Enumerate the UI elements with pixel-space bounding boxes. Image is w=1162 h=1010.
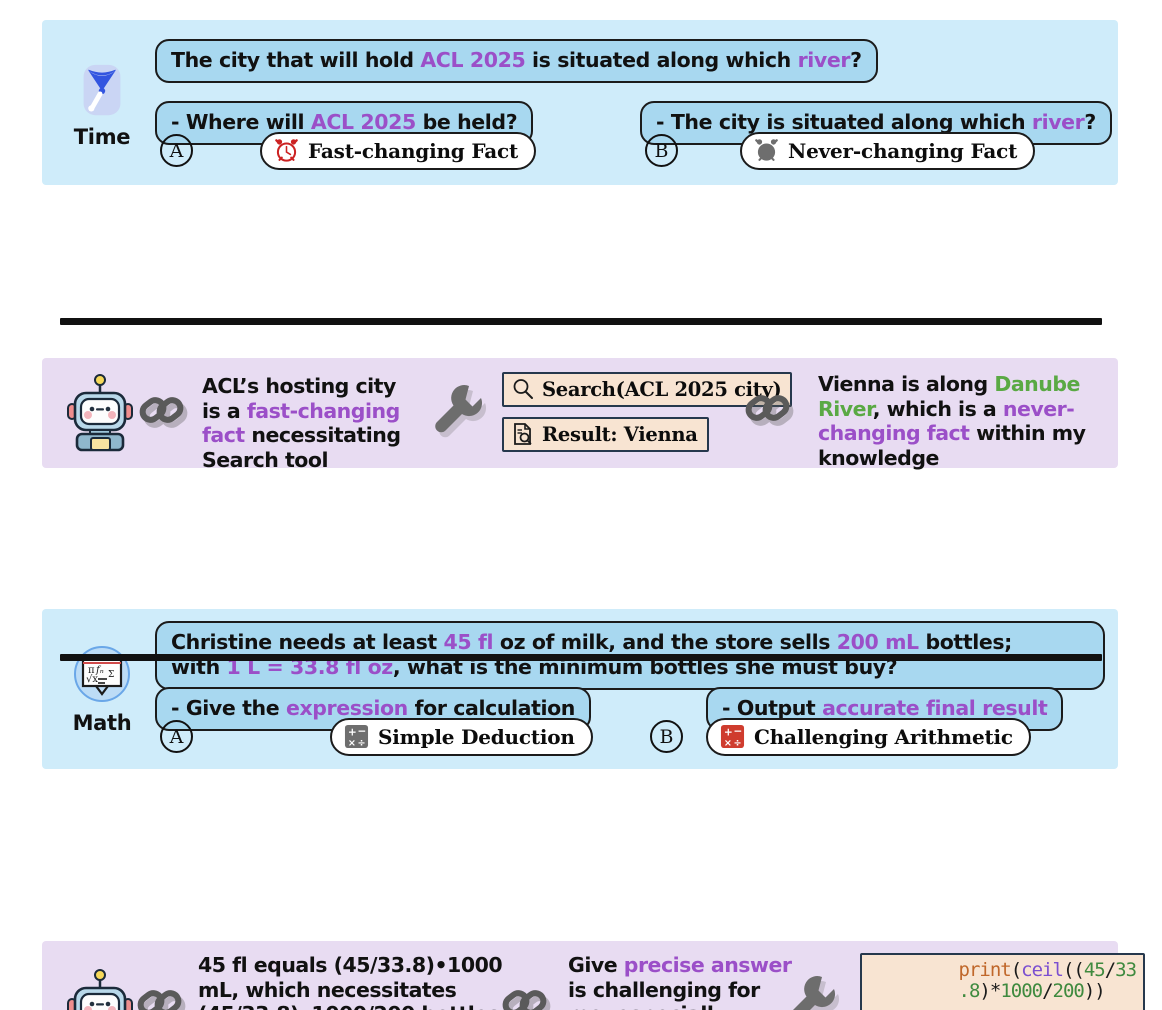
magnifier-icon (511, 377, 535, 401)
time-label-column: Time (54, 20, 150, 185)
time-question-panel: Time The city that will hold ACL 2025 is… (42, 20, 1118, 185)
rb-l1: Vienna is along (818, 372, 994, 396)
rb-l2: , which is a (873, 397, 1003, 421)
badge-a: A (160, 720, 193, 753)
svg-text:−: − (357, 726, 366, 738)
sq-text: - Output (722, 696, 822, 720)
pill-label: Never-changing Fact (788, 139, 1017, 163)
agent-avatar-column (54, 941, 146, 1010)
ra-l3: necessitating (245, 423, 401, 447)
sq-highlight: ACL 2025 (311, 110, 416, 134)
hourglass-icon (69, 57, 135, 123)
chain-link-icon-2 (745, 386, 801, 438)
ra-l3h: fact (202, 423, 245, 447)
mm-2: is challenging for (568, 978, 760, 1002)
code-window-icon: </> (868, 965, 952, 1010)
svg-text:√x: √x (86, 674, 98, 685)
badge-b: B (650, 720, 683, 753)
badge-a: A (160, 134, 193, 167)
math-label: Math (73, 711, 132, 735)
time-answer-left-text: ACL’s hosting city is a fast-changing fa… (202, 374, 402, 472)
q-text-3: ? (850, 48, 862, 72)
tool-search-result[interactable]: Result: Vienna (502, 417, 709, 452)
code-text: print(ceil((45/33.8)*1000/200)) (959, 960, 1137, 1003)
sq-highlight: expression (286, 696, 408, 720)
sq-text-2: for calculation (408, 696, 575, 720)
math-answer-mid-text: Give precise answer is challenging for m… (568, 953, 808, 1010)
math-label-column: π fₙ Σ √x Math (54, 609, 150, 769)
q-highlight-2: river (798, 48, 851, 72)
ra-l2h: fast-changing (247, 399, 400, 423)
time-answer-panel: ACL’s hosting city is a fast-changing fa… (42, 358, 1118, 468)
svg-text:÷: ÷ (357, 738, 365, 749)
sq-text: - Where will (171, 110, 311, 134)
mq-1a: Christine needs at least (171, 630, 444, 654)
pill-label: Fast-changing Fact (308, 139, 518, 163)
figure-root: Time The city that will hold ACL 2025 is… (0, 0, 1162, 1010)
wrench-icon-2 (778, 969, 842, 1010)
rb-l1h: Danube (994, 372, 1080, 396)
robot-icon (64, 969, 136, 1010)
ml-3: (45/33.8)•1000/200 bottles. (198, 1002, 507, 1010)
chain-link-icon-4 (502, 981, 558, 1010)
pill-label: Simple Deduction (378, 725, 575, 749)
mm-3: me, especially (568, 1002, 726, 1010)
mq-h1: 45 fl (444, 630, 494, 654)
alarm-clock-red-icon (274, 138, 299, 163)
pill-challenging-arithmetic: + − × ÷ Challenging Arithmetic (706, 718, 1031, 756)
q-text-2: is situated along which (525, 48, 797, 72)
section-divider-2 (60, 654, 1102, 661)
tool-code-call[interactable]: </> print(ceil((45/33.8)*1000/200)) (860, 953, 1145, 1010)
agent-avatar-column (54, 358, 146, 468)
sq-text: - The city is situated along which (656, 110, 1032, 134)
svg-text:÷: ÷ (733, 738, 741, 749)
math-answer-left-text: 45 fl equals (45/33.8)•1000 mL, which ne… (198, 953, 508, 1010)
section-divider-1 (60, 318, 1102, 325)
calculator-gray-icon: + − × ÷ (344, 724, 369, 749)
calculator-red-icon: + − × ÷ (720, 724, 745, 749)
svg-text:+: + (348, 727, 357, 739)
mm-1: Give precise answer (568, 953, 791, 977)
sq-text-2: be held? (416, 110, 517, 134)
pill-never-changing-fact: Never-changing Fact (740, 132, 1035, 170)
sq-text-2: ? (1084, 110, 1096, 134)
ml-1: 45 fl equals (45/33.8)•1000 (198, 953, 502, 977)
sq-text: - Give the (171, 696, 286, 720)
tool-label: Result: Vienna (542, 423, 698, 446)
pill-label: Challenging Arithmetic (754, 725, 1013, 749)
mq-1c: bottles; (919, 630, 1012, 654)
q-highlight-1: ACL 2025 (420, 48, 525, 72)
robot-icon (64, 374, 136, 452)
time-answer-right-text: Vienna is along Danube River, which is a… (818, 372, 1108, 470)
wrench-icon-1 (425, 378, 489, 442)
mq-1b: oz of milk, and the store sells (493, 630, 837, 654)
svg-text:+: + (724, 727, 733, 739)
math-answer-panel: 45 fl equals (45/33.8)•1000 mL, which ne… (42, 941, 1118, 1010)
svg-text:Σ: Σ (108, 670, 114, 680)
svg-text:×: × (348, 738, 356, 749)
rb-l4: knowledge (818, 446, 939, 470)
badge-b: B (645, 134, 678, 167)
svg-text:−: − (733, 726, 742, 738)
rb-l2h: River (818, 397, 873, 421)
sq-highlight: accurate final result (822, 696, 1047, 720)
math-question-panel: π fₙ Σ √x Math Christine needs at least … (42, 609, 1118, 769)
ml-2: mL, which necessitates (198, 978, 456, 1002)
rb-l3: within my (969, 421, 1085, 445)
rb-l3h: changing fact (818, 421, 969, 445)
chain-link-icon-1 (139, 388, 195, 440)
chain-link-icon-3 (137, 981, 193, 1010)
rb-l2h2: never- (1003, 397, 1074, 421)
math-board-icon: π fₙ Σ √x (69, 643, 135, 709)
ra-l1: ACL’s hosting city (202, 374, 396, 398)
doc-search-icon (511, 422, 535, 446)
mq-h2: 200 mL (837, 630, 919, 654)
alarm-clock-gray-icon (754, 138, 779, 163)
sq-highlight: river (1032, 110, 1085, 134)
time-label: Time (74, 125, 130, 149)
pill-simple-deduction: + − × ÷ Simple Deduction (330, 718, 593, 756)
q-text: The city that will hold (171, 48, 420, 72)
ra-l2: is a (202, 399, 247, 423)
svg-text:×: × (724, 738, 732, 749)
pill-fast-changing-fact: Fast-changing Fact (260, 132, 536, 170)
time-main-question: The city that will hold ACL 2025 is situ… (155, 39, 878, 83)
ra-l4: Search tool (202, 448, 328, 472)
